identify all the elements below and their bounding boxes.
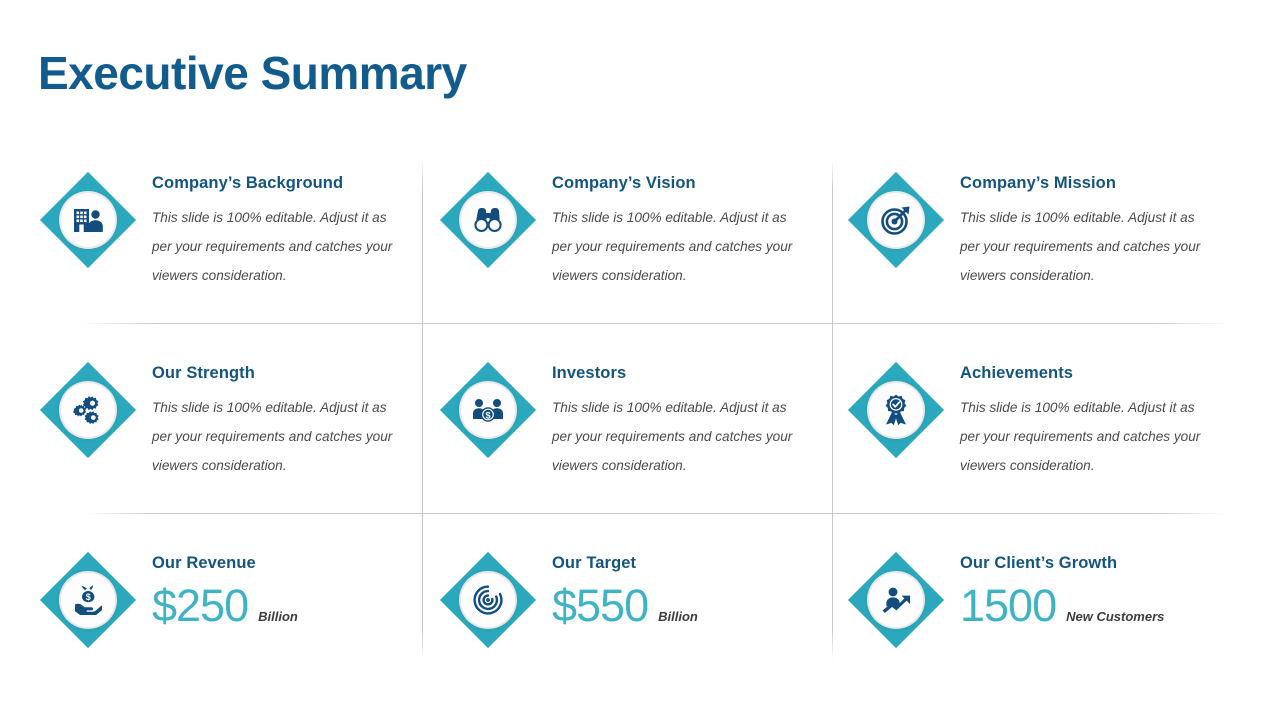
card-heading: Company’s Mission <box>960 174 1208 193</box>
icon-badge <box>848 362 944 458</box>
building-person-icon <box>61 193 115 247</box>
icon-badge <box>440 552 536 648</box>
card-our-target[interactable]: Our Target $550 Billion <box>440 552 800 648</box>
stat-line: 1500 New Customers <box>960 583 1208 628</box>
card-heading: Company’s Background <box>152 174 400 193</box>
stat-unit: Billion <box>658 609 698 624</box>
card-text: Company’s Vision This slide is 100% edit… <box>552 172 800 290</box>
card-body: This slide is 100% editable. Adjust it a… <box>152 203 400 290</box>
card-body: This slide is 100% editable. Adjust it a… <box>960 203 1208 290</box>
stat-value: $550 <box>552 583 648 628</box>
icon-badge <box>848 172 944 268</box>
svg-text:$: $ <box>86 592 91 602</box>
card-text: Our Target $550 Billion <box>552 552 800 628</box>
card-company-vision[interactable]: Company’s Vision This slide is 100% edit… <box>440 172 800 290</box>
stat-line: $550 Billion <box>552 583 800 628</box>
card-heading: Achievements <box>960 364 1208 383</box>
gears-icon <box>61 383 115 437</box>
card-company-background[interactable]: Company’s Background This slide is 100% … <box>40 172 400 290</box>
card-body: This slide is 100% editable. Adjust it a… <box>152 393 400 480</box>
card-text: Our Strength This slide is 100% editable… <box>152 362 400 480</box>
person-growth-arrow-icon <box>869 573 923 627</box>
card-body: This slide is 100% editable. Adjust it a… <box>960 393 1208 480</box>
slide-canvas: Executive Summary <box>0 0 1280 720</box>
card-body: This slide is 100% editable. Adjust it a… <box>552 393 800 480</box>
icon-badge <box>40 362 136 458</box>
card-heading: Our Client’s Growth <box>960 554 1208 573</box>
grid-divider-horizontal-1 <box>80 323 1230 324</box>
icon-badge <box>848 552 944 648</box>
grid-divider-vertical-2 <box>832 160 833 660</box>
card-company-mission[interactable]: Company’s Mission This slide is 100% edi… <box>848 172 1208 290</box>
card-heading: Our Revenue <box>152 554 400 573</box>
stat-value: $250 <box>152 583 248 628</box>
people-money-icon: $ <box>461 383 515 437</box>
icon-badge <box>440 172 536 268</box>
card-investors[interactable]: $ Investors This slide is 100% editable.… <box>440 362 800 480</box>
card-text: Our Revenue $250 Billion <box>152 552 400 628</box>
card-our-clients-growth[interactable]: Our Client’s Growth 1500 New Customers <box>848 552 1208 648</box>
icon-badge: $ <box>40 552 136 648</box>
card-body: This slide is 100% editable. Adjust it a… <box>552 203 800 290</box>
stat-line: $250 Billion <box>152 583 400 628</box>
card-heading: Company’s Vision <box>552 174 800 193</box>
card-text: Achievements This slide is 100% editable… <box>960 362 1208 480</box>
icon-badge <box>40 172 136 268</box>
card-achievements[interactable]: Achievements This slide is 100% editable… <box>848 362 1208 480</box>
money-hand-icon: $ <box>61 573 115 627</box>
target-arrow-icon <box>869 193 923 247</box>
card-text: Company’s Background This slide is 100% … <box>152 172 400 290</box>
card-text: Investors This slide is 100% editable. A… <box>552 362 800 480</box>
award-ribbon-icon <box>869 383 923 437</box>
svg-text:$: $ <box>485 411 491 422</box>
card-heading: Investors <box>552 364 800 383</box>
grid-divider-vertical-1 <box>422 160 423 660</box>
binoculars-icon <box>461 193 515 247</box>
stat-value: 1500 <box>960 583 1056 628</box>
card-our-revenue[interactable]: $ Our Revenue $250 Billion <box>40 552 400 648</box>
page-title: Executive Summary <box>38 48 467 99</box>
stat-unit: New Customers <box>1066 609 1164 624</box>
icon-badge: $ <box>440 362 536 458</box>
grid-divider-horizontal-2 <box>80 513 1230 514</box>
card-heading: Our Target <box>552 554 800 573</box>
card-text: Company’s Mission This slide is 100% edi… <box>960 172 1208 290</box>
radar-target-icon <box>461 573 515 627</box>
card-heading: Our Strength <box>152 364 400 383</box>
stat-unit: Billion <box>258 609 298 624</box>
card-our-strength[interactable]: Our Strength This slide is 100% editable… <box>40 362 400 480</box>
card-text: Our Client’s Growth 1500 New Customers <box>960 552 1208 628</box>
